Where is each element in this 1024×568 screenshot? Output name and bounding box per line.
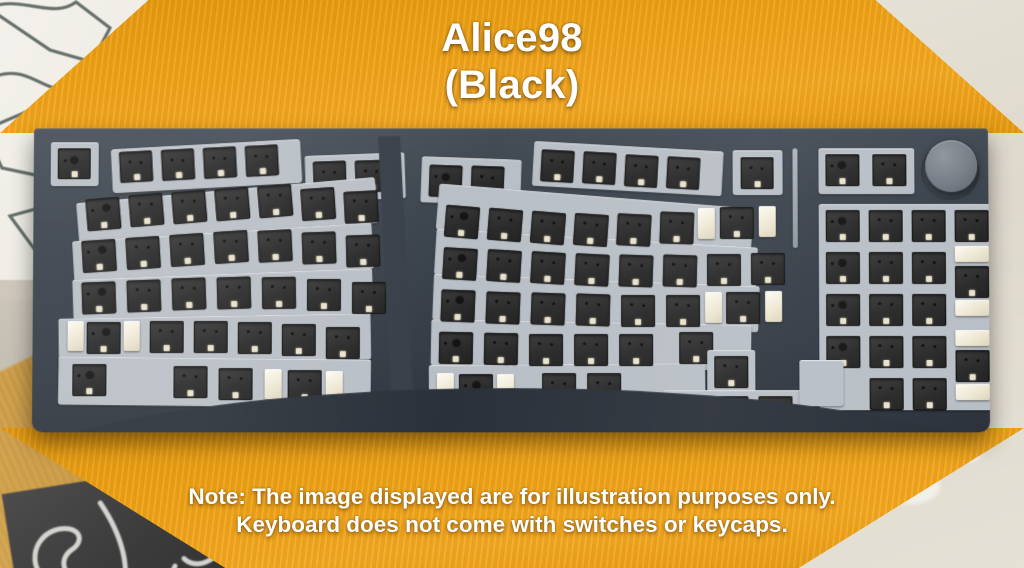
switch-socket bbox=[530, 292, 565, 325]
stabilizer-bottom bbox=[956, 384, 990, 400]
stabilizer-top bbox=[955, 330, 989, 346]
switch-socket bbox=[912, 294, 946, 326]
switch-socket bbox=[530, 251, 566, 285]
switch-socket bbox=[576, 294, 611, 327]
switch-socket bbox=[485, 291, 520, 324]
switch-socket bbox=[444, 205, 480, 240]
switch-socket bbox=[173, 366, 207, 398]
stabilizer-left bbox=[68, 321, 84, 351]
switch-socket bbox=[440, 289, 475, 322]
switch-socket bbox=[659, 212, 694, 245]
switch-socket bbox=[720, 207, 754, 239]
switch-socket bbox=[352, 282, 386, 314]
switch-socket bbox=[238, 322, 272, 354]
disclaimer-line-1: Note: The image displayed are for illust… bbox=[0, 484, 1024, 511]
switch-socket bbox=[150, 321, 184, 353]
switch-socket bbox=[72, 364, 106, 396]
switch-socket bbox=[203, 146, 237, 179]
switch-socket bbox=[257, 229, 293, 263]
switch-socket bbox=[81, 281, 116, 314]
stabilizer-left bbox=[705, 292, 722, 323]
switch-socket bbox=[245, 144, 280, 177]
switch-socket bbox=[666, 295, 700, 327]
stabilizer-left bbox=[265, 369, 282, 399]
switch-socket bbox=[913, 378, 947, 410]
switch-socket bbox=[869, 210, 903, 242]
stabilizer-right bbox=[765, 291, 782, 322]
switch-socket bbox=[826, 252, 860, 284]
switch-socket bbox=[484, 333, 519, 366]
switch-socket bbox=[171, 277, 206, 310]
switch-socket bbox=[619, 334, 653, 366]
product-title-line-2: (Black) bbox=[0, 64, 1024, 106]
switch-socket bbox=[169, 233, 205, 267]
switch-socket bbox=[300, 187, 336, 221]
alice-center-split bbox=[378, 136, 414, 410]
switch-socket bbox=[530, 211, 566, 246]
switch-socket bbox=[663, 255, 698, 288]
switch-socket bbox=[621, 295, 655, 327]
switch-socket bbox=[282, 324, 316, 356]
switch-socket bbox=[574, 334, 608, 366]
switch-socket bbox=[81, 239, 117, 273]
switch-socket bbox=[872, 154, 906, 186]
switch-socket bbox=[194, 321, 228, 353]
keyboard-case bbox=[32, 128, 990, 432]
switch-socket bbox=[955, 210, 989, 242]
switch-socket bbox=[307, 279, 341, 311]
switch-socket bbox=[582, 151, 617, 185]
switch-socket bbox=[912, 336, 946, 368]
stabilizer-right bbox=[124, 321, 140, 351]
switch-socket bbox=[826, 210, 860, 242]
switch-socket bbox=[125, 236, 161, 270]
switch-socket bbox=[486, 249, 522, 283]
switch-socket bbox=[666, 156, 701, 190]
plate-divider-bar bbox=[792, 148, 797, 248]
switch-socket bbox=[726, 292, 760, 324]
plate-segment-numpad-left bbox=[799, 360, 843, 406]
switch-socket bbox=[751, 253, 785, 285]
switch-socket bbox=[624, 154, 659, 188]
switch-socket bbox=[213, 230, 249, 264]
switch-socket bbox=[442, 247, 478, 281]
switch-socket bbox=[302, 231, 337, 264]
rotary-encoder-knob[interactable] bbox=[925, 140, 977, 192]
switch-socket bbox=[262, 277, 296, 310]
switch-socket bbox=[257, 184, 294, 219]
switch-socket bbox=[574, 253, 610, 287]
switch-socket bbox=[573, 213, 609, 247]
switch-socket bbox=[869, 336, 903, 368]
switch-socket bbox=[616, 213, 652, 247]
stabilizer-right bbox=[759, 206, 776, 237]
switch-socket bbox=[346, 235, 381, 268]
switch-socket bbox=[161, 148, 195, 181]
stabilizer-top bbox=[955, 246, 989, 262]
switch-socket bbox=[540, 149, 575, 183]
stabilizer-bottom bbox=[955, 300, 989, 316]
disclaimer-line-2: Keyboard does not come with switches or … bbox=[0, 512, 1024, 539]
switch-socket bbox=[119, 150, 153, 183]
product-image-banner: Alice98 (Black) Note: The image displaye… bbox=[0, 0, 1024, 568]
switch-socket bbox=[869, 294, 903, 326]
switch-socket bbox=[955, 266, 989, 298]
switch-socket bbox=[214, 187, 250, 222]
switch-socket bbox=[869, 252, 903, 284]
switch-socket bbox=[870, 378, 904, 410]
switch-socket bbox=[439, 332, 474, 365]
switch-socket bbox=[171, 190, 207, 225]
switch-socket bbox=[87, 322, 121, 354]
switch-socket bbox=[126, 279, 161, 312]
switch-socket bbox=[326, 327, 360, 359]
switch-socket bbox=[343, 190, 379, 224]
switch-socket bbox=[826, 294, 860, 326]
switch-socket bbox=[741, 157, 774, 189]
product-title-line-1: Alice98 bbox=[0, 17, 1024, 59]
switch-socket bbox=[714, 356, 748, 388]
switch-socket bbox=[825, 154, 859, 186]
switch-socket bbox=[487, 208, 523, 243]
switch-socket bbox=[58, 148, 91, 179]
stabilizer-left bbox=[698, 208, 715, 239]
switch-socket bbox=[128, 193, 164, 228]
switch-socket bbox=[912, 252, 946, 284]
switch-socket bbox=[217, 277, 252, 310]
switch-socket bbox=[618, 254, 653, 287]
switch-socket bbox=[955, 350, 989, 382]
switch-socket bbox=[218, 368, 252, 400]
switch-socket bbox=[85, 197, 121, 232]
switch-socket bbox=[707, 254, 741, 286]
switch-socket bbox=[912, 210, 946, 242]
switch-socket bbox=[529, 334, 563, 366]
